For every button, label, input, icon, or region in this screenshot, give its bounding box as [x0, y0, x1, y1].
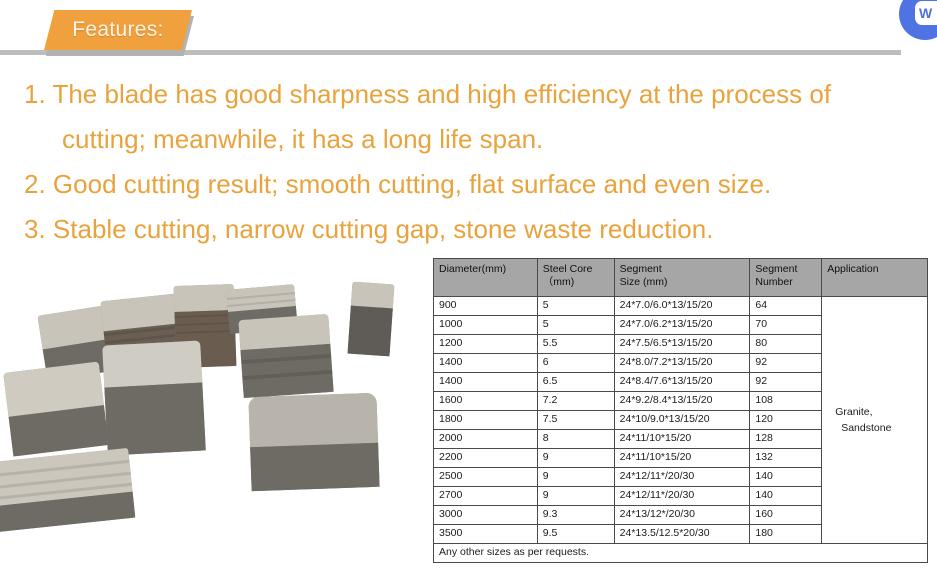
cell-diameter: 3500	[434, 525, 538, 544]
cell-segment-size: 24*7.5/6.5*13/15/20	[614, 335, 750, 354]
cell-segment-number: 140	[750, 487, 822, 506]
application-line1: Granite,	[835, 404, 922, 420]
cell-steel-core: 6.5	[537, 373, 614, 392]
feature-text-3: Stable cutting, narrow cutting gap, ston…	[53, 214, 714, 244]
segment-block	[3, 361, 109, 456]
cell-segment-size: 24*12/11*/20/30	[614, 487, 750, 506]
cell-segment-number: 128	[750, 430, 822, 449]
column-header-segment-size: Segment Size (mm)	[614, 259, 750, 297]
page-root: Features: W 1. The blade has good sharpn…	[0, 0, 937, 574]
table-head: Diameter(mm) Steel Core （mm) Segment Siz…	[434, 259, 928, 297]
cell-diameter: 1200	[434, 335, 538, 354]
cell-segment-size: 24*9.2/8.4*13/15/20	[614, 392, 750, 411]
cell-steel-core: 9.5	[537, 525, 614, 544]
cell-diameter: 1600	[434, 392, 538, 411]
cell-steel-core: 5.5	[537, 335, 614, 354]
application-line2: Sandstone	[835, 420, 922, 436]
cell-segment-number: 64	[750, 297, 822, 316]
cell-segment-size: 24*12/11*/20/30	[614, 468, 750, 487]
steel-core-label-line2: （mm)	[543, 276, 609, 289]
table-header-row: Diameter(mm) Steel Core （mm) Segment Siz…	[434, 259, 928, 297]
feature-item-1: 1. The blade has good sharpness and high…	[24, 72, 929, 117]
cell-steel-core: 9	[537, 487, 614, 506]
segment-number-label-line1: Segment	[755, 263, 816, 276]
cell-diameter: 1400	[434, 373, 538, 392]
cell-diameter: 900	[434, 297, 538, 316]
cell-segment-number: 92	[750, 354, 822, 373]
features-list: 1. The blade has good sharpness and high…	[24, 72, 929, 252]
column-header-diameter: Diameter(mm)	[434, 259, 538, 297]
steel-core-label-line1: Steel Core	[543, 263, 609, 276]
feature-text-1-line2: cutting; meanwhile, it has a long life s…	[62, 124, 543, 154]
feature-number-1: 1.	[24, 79, 46, 109]
feature-text-2: Good cutting result; smooth cutting, fla…	[53, 169, 771, 199]
cell-segment-number: 80	[750, 335, 822, 354]
cell-segment-number: 132	[750, 449, 822, 468]
watermark-badge: W	[899, 0, 937, 40]
cell-segment-number: 92	[750, 373, 822, 392]
feature-item-1-continued: cutting; meanwhile, it has a long life s…	[24, 117, 929, 162]
table-row: 900524*7.0/6.0*13/15/2064Granite,Sandsto…	[434, 297, 928, 316]
cell-diameter: 1400	[434, 354, 538, 373]
cell-steel-core: 8	[537, 430, 614, 449]
cell-segment-size: 24*11/10*15/20	[614, 449, 750, 468]
cell-segment-size: 24*7.0/6.2*13/15/20	[614, 316, 750, 335]
segment-block	[238, 314, 333, 398]
cell-diameter: 2700	[434, 487, 538, 506]
cell-diameter: 1800	[434, 411, 538, 430]
cell-application: Granite,Sandstone	[822, 297, 928, 544]
segment-block	[102, 341, 206, 456]
cell-diameter: 2200	[434, 449, 538, 468]
cell-steel-core: 9	[537, 449, 614, 468]
cell-steel-core: 6	[537, 354, 614, 373]
cell-steel-core: 7.2	[537, 392, 614, 411]
features-banner: Features:	[44, 10, 194, 58]
cell-segment-size: 24*11/10*15/20	[614, 430, 750, 449]
column-header-segment-number: Segment Number	[750, 259, 822, 297]
feature-item-2: 2. Good cutting result; smooth cutting, …	[24, 162, 929, 207]
cell-segment-size: 24*8.4/7.6*13/15/20	[614, 373, 750, 392]
cell-diameter: 1000	[434, 316, 538, 335]
cell-steel-core: 9	[537, 468, 614, 487]
feature-number-2: 2.	[24, 169, 46, 199]
column-header-application: Application	[822, 259, 928, 297]
feature-text-1: The blade has good sharpness and high ef…	[52, 79, 831, 109]
segment-block	[248, 393, 379, 491]
cell-segment-size: 24*13/12*/20/30	[614, 506, 750, 525]
cell-segment-number: 140	[750, 468, 822, 487]
cell-steel-core: 5	[537, 297, 614, 316]
cell-segment-number: 108	[750, 392, 822, 411]
table-footer-row: Any other sizes as per requests.	[434, 544, 928, 563]
watermark-letter: W	[915, 1, 937, 25]
cell-segment-number: 70	[750, 316, 822, 335]
cell-steel-core: 5	[537, 316, 614, 335]
cell-segment-number: 120	[750, 411, 822, 430]
specification-table: Diameter(mm) Steel Core （mm) Segment Siz…	[433, 258, 928, 563]
cell-segment-number: 160	[750, 506, 822, 525]
cell-segment-number: 180	[750, 525, 822, 544]
cell-segment-size: 24*7.0/6.0*13/15/20	[614, 297, 750, 316]
table-body: 900524*7.0/6.0*13/15/2064Granite,Sandsto…	[434, 297, 928, 563]
feature-number-3: 3.	[24, 214, 46, 244]
segment-size-label-line1: Segment	[620, 263, 745, 276]
column-header-steel-core: Steel Core （mm)	[537, 259, 614, 297]
cell-diameter: 3000	[434, 506, 538, 525]
product-photo-segments	[0, 255, 425, 574]
cell-segment-size: 24*8.0/7.2*13/15/20	[614, 354, 750, 373]
cell-segment-size: 24*10/9.0*13/15/20	[614, 411, 750, 430]
cell-steel-core: 7.5	[537, 411, 614, 430]
feature-item-3: 3. Stable cutting, narrow cutting gap, s…	[24, 207, 929, 252]
segment-number-label-line2: Number	[755, 276, 816, 289]
cell-diameter: 2500	[434, 468, 538, 487]
segment-size-label-line2: Size (mm)	[620, 276, 745, 289]
cell-segment-size: 24*13.5/12.5*20/30	[614, 525, 750, 544]
footer-note: Any other sizes as per requests.	[434, 544, 928, 563]
banner-title: Features:	[44, 10, 192, 50]
segment-block	[348, 282, 395, 357]
segment-block	[0, 448, 135, 532]
cell-steel-core: 9.3	[537, 506, 614, 525]
cell-diameter: 2000	[434, 430, 538, 449]
